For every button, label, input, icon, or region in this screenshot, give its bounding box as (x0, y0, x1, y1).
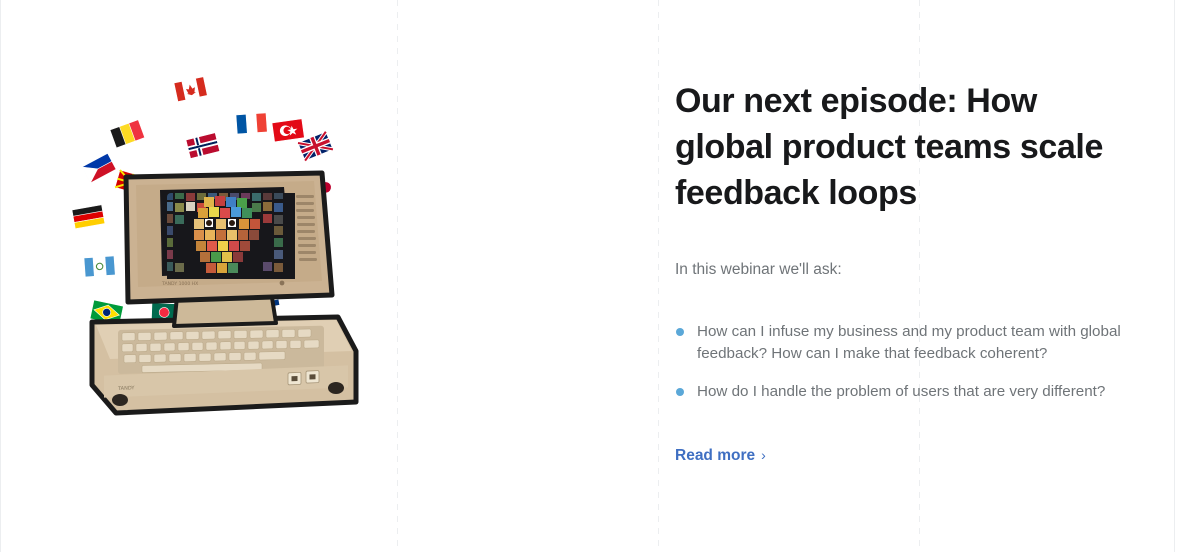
bullet-dot-icon (676, 328, 684, 336)
flag-mosaic-face (160, 187, 295, 279)
webinar-promo-page: TANDY (0, 0, 1200, 552)
flag-belgium (110, 120, 145, 148)
read-more-label: Read more (675, 447, 755, 464)
list-item-label: How do I handle the problem of users tha… (697, 383, 1105, 400)
lede-text: In this webinar we'll ask: (675, 216, 1135, 281)
flag-norway (186, 133, 220, 159)
flag-france (236, 113, 267, 134)
svg-text:TANDY: TANDY (117, 385, 135, 392)
list-item: How can I infuse my business and my prod… (675, 321, 1135, 365)
guide-line-1 (0, 0, 1, 552)
flag-philippines (82, 153, 116, 183)
flag-guatemala (84, 256, 115, 277)
vintage-computer-flags-illustration: TANDY (70, 55, 400, 445)
promo-text-column: Our next episode: How global product tea… (675, 78, 1135, 465)
list-item-label: How can I infuse my business and my prod… (697, 323, 1121, 362)
read-more-link[interactable]: Read more› (675, 447, 766, 465)
guide-line-5 (1174, 0, 1175, 552)
computer-keyboard-base: TANDY (92, 317, 356, 413)
page-title: Our next episode: How global product tea… (675, 78, 1135, 216)
computer-illustration-svg: TANDY (70, 55, 400, 445)
flag-turkey (272, 119, 304, 142)
guide-line-3 (658, 0, 659, 552)
chevron-right-icon: › (761, 447, 766, 463)
power-led (280, 281, 285, 286)
flag-canada (174, 77, 207, 102)
question-list: How can I infuse my business and my prod… (675, 281, 1135, 403)
list-item: How do I handle the problem of users tha… (675, 381, 1135, 403)
crt-monitor: TANDY 1000 HX (126, 173, 332, 302)
svg-text:TANDY 1000 HX: TANDY 1000 HX (161, 281, 198, 287)
bullet-dot-icon (676, 388, 684, 396)
flag-germany (72, 205, 105, 229)
